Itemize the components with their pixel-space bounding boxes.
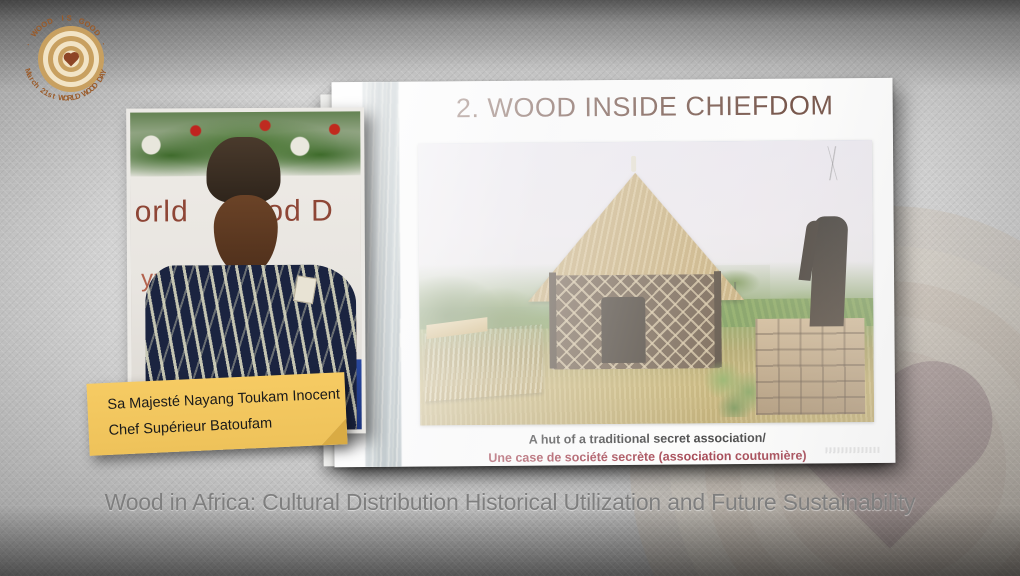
photo-hut-post-left bbox=[549, 272, 557, 368]
note-folded-corner bbox=[320, 418, 347, 445]
caption-sticky-note: Sa Majesté Nayang Toukam Inocent Chef Su… bbox=[86, 372, 347, 456]
backdrop-text-world: orld bbox=[135, 195, 189, 229]
lower-third-banner: Wood in Africa: Cultural Distribution Hi… bbox=[0, 489, 1020, 516]
photo-hut-finial bbox=[631, 156, 636, 172]
bottom-letterbox-fade bbox=[0, 506, 1020, 576]
video-frame: · WOOD IS GOOD ·March 21st WORLD WOOD DA… bbox=[0, 0, 1020, 576]
slide-photo-hut bbox=[418, 140, 874, 426]
top-letterbox-fade bbox=[0, 0, 1020, 90]
slide-decorative-strip-overlay bbox=[362, 82, 401, 467]
slide-corner-mark bbox=[825, 447, 879, 453]
photo-woven-mat-fence bbox=[424, 325, 542, 402]
photo-wood-carving bbox=[809, 216, 848, 326]
note-line-title: Chef Supérieur Batoufam bbox=[108, 416, 272, 439]
slide-title: 2. WOOD INSIDE CHIEFDOM bbox=[410, 90, 880, 125]
note-line-name: Sa Majesté Nayang Toukam Inocent bbox=[107, 386, 340, 413]
photo-hut-doorway bbox=[601, 297, 646, 363]
portrait-traditional-cap bbox=[206, 137, 280, 203]
world-wood-day-logo: · WOOD IS GOOD ·March 21st WORLD WOOD DA… bbox=[12, 8, 120, 108]
photo-twig bbox=[803, 146, 863, 180]
slide-caption-english: A hut of a traditional secret associatio… bbox=[412, 430, 882, 448]
logo-arc-text: · WOOD IS GOOD ·March 21st WORLD WOOD DA… bbox=[12, 8, 120, 108]
photo-stone-pillar bbox=[755, 318, 865, 415]
presentation-slide: 2. WOOD INSIDE CHIEFDOM bbox=[331, 78, 895, 467]
slide-caption-french: Une case de société secrète (association… bbox=[412, 448, 882, 466]
photo-hut-post-right bbox=[714, 271, 722, 367]
